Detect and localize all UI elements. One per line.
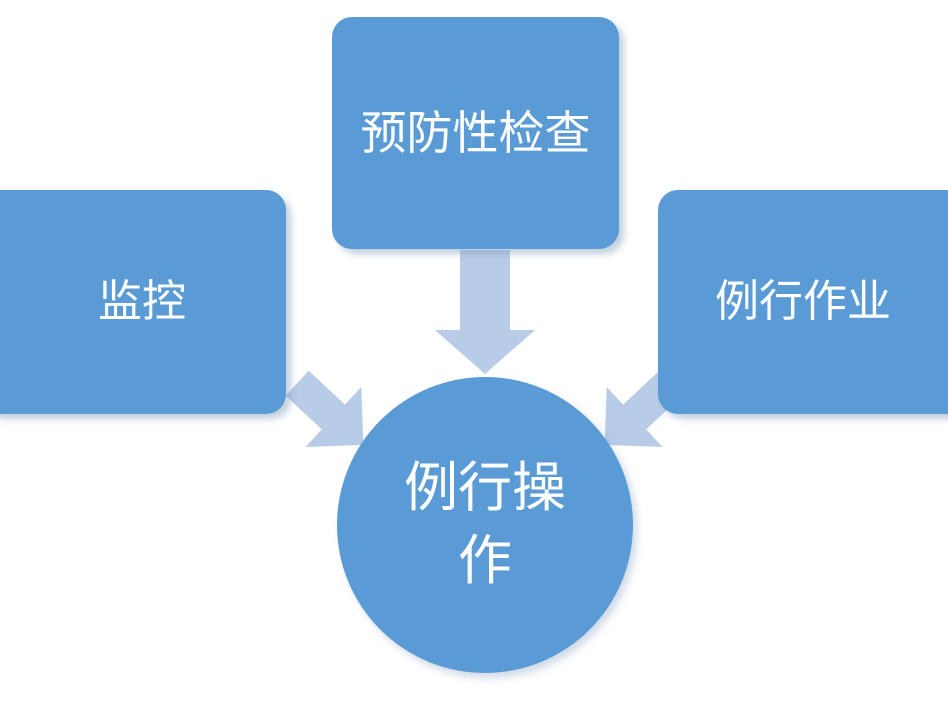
node-routine-task-label: 例行作业	[715, 277, 891, 328]
node-routine-operation-label: 例行操作	[395, 452, 575, 598]
node-routine-operation[interactable]: 例行操作	[337, 377, 633, 673]
node-preventive-inspection-label: 预防性检查	[361, 107, 591, 160]
node-monitoring-label: 监控	[98, 277, 186, 328]
node-routine-task[interactable]: 例行作业	[658, 190, 948, 414]
arrow-down-icon	[418, 246, 552, 378]
node-monitoring[interactable]: 监控	[0, 190, 286, 414]
diagram-canvas: 预防性检查 监控 例行作业 例行操作	[0, 0, 948, 705]
node-preventive-inspection[interactable]: 预防性检查	[332, 17, 619, 249]
